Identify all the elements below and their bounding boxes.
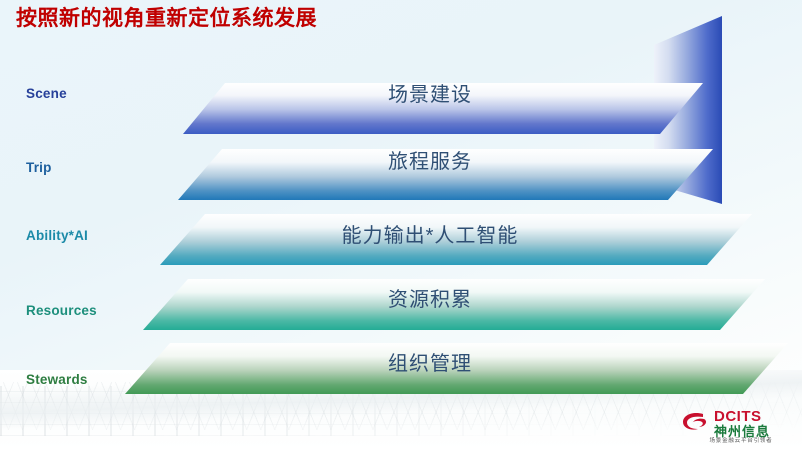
pyramid-label-resources: Resources: [26, 303, 97, 318]
swoosh-icon: [680, 410, 710, 436]
pyramid-text-stewards: 组织管理: [330, 347, 530, 376]
company-logo: DCITS 神州信息 场景金融云平台引领者: [680, 401, 796, 445]
slide-title: 按照新的视角重新定位系统发展: [16, 5, 317, 33]
pyramid-label-trip: Trip: [26, 160, 52, 175]
logo-wordmark: DCITS 神州信息: [714, 409, 770, 438]
logo-brand-en: DCITS: [714, 409, 770, 424]
pyramid-text-scene: 场景建设: [330, 78, 530, 107]
pyramid-label-scene: Scene: [26, 86, 67, 101]
slide-canvas: 按照新的视角重新定位系统发展: [0, 0, 802, 449]
pyramid-text-trip: 旅程服务: [330, 145, 530, 174]
pyramid-label-ability-ai: Ability*AI: [26, 228, 88, 243]
back-panel-graphic: [640, 16, 750, 216]
logo-tagline: 场景金融云平台引领者: [686, 436, 796, 444]
pyramid-text-resources: 资源积累: [330, 283, 530, 312]
pyramid-label-stewards: Stewards: [26, 372, 88, 387]
pyramid-text-ability-ai: 能力输出*人工智能: [300, 219, 560, 248]
